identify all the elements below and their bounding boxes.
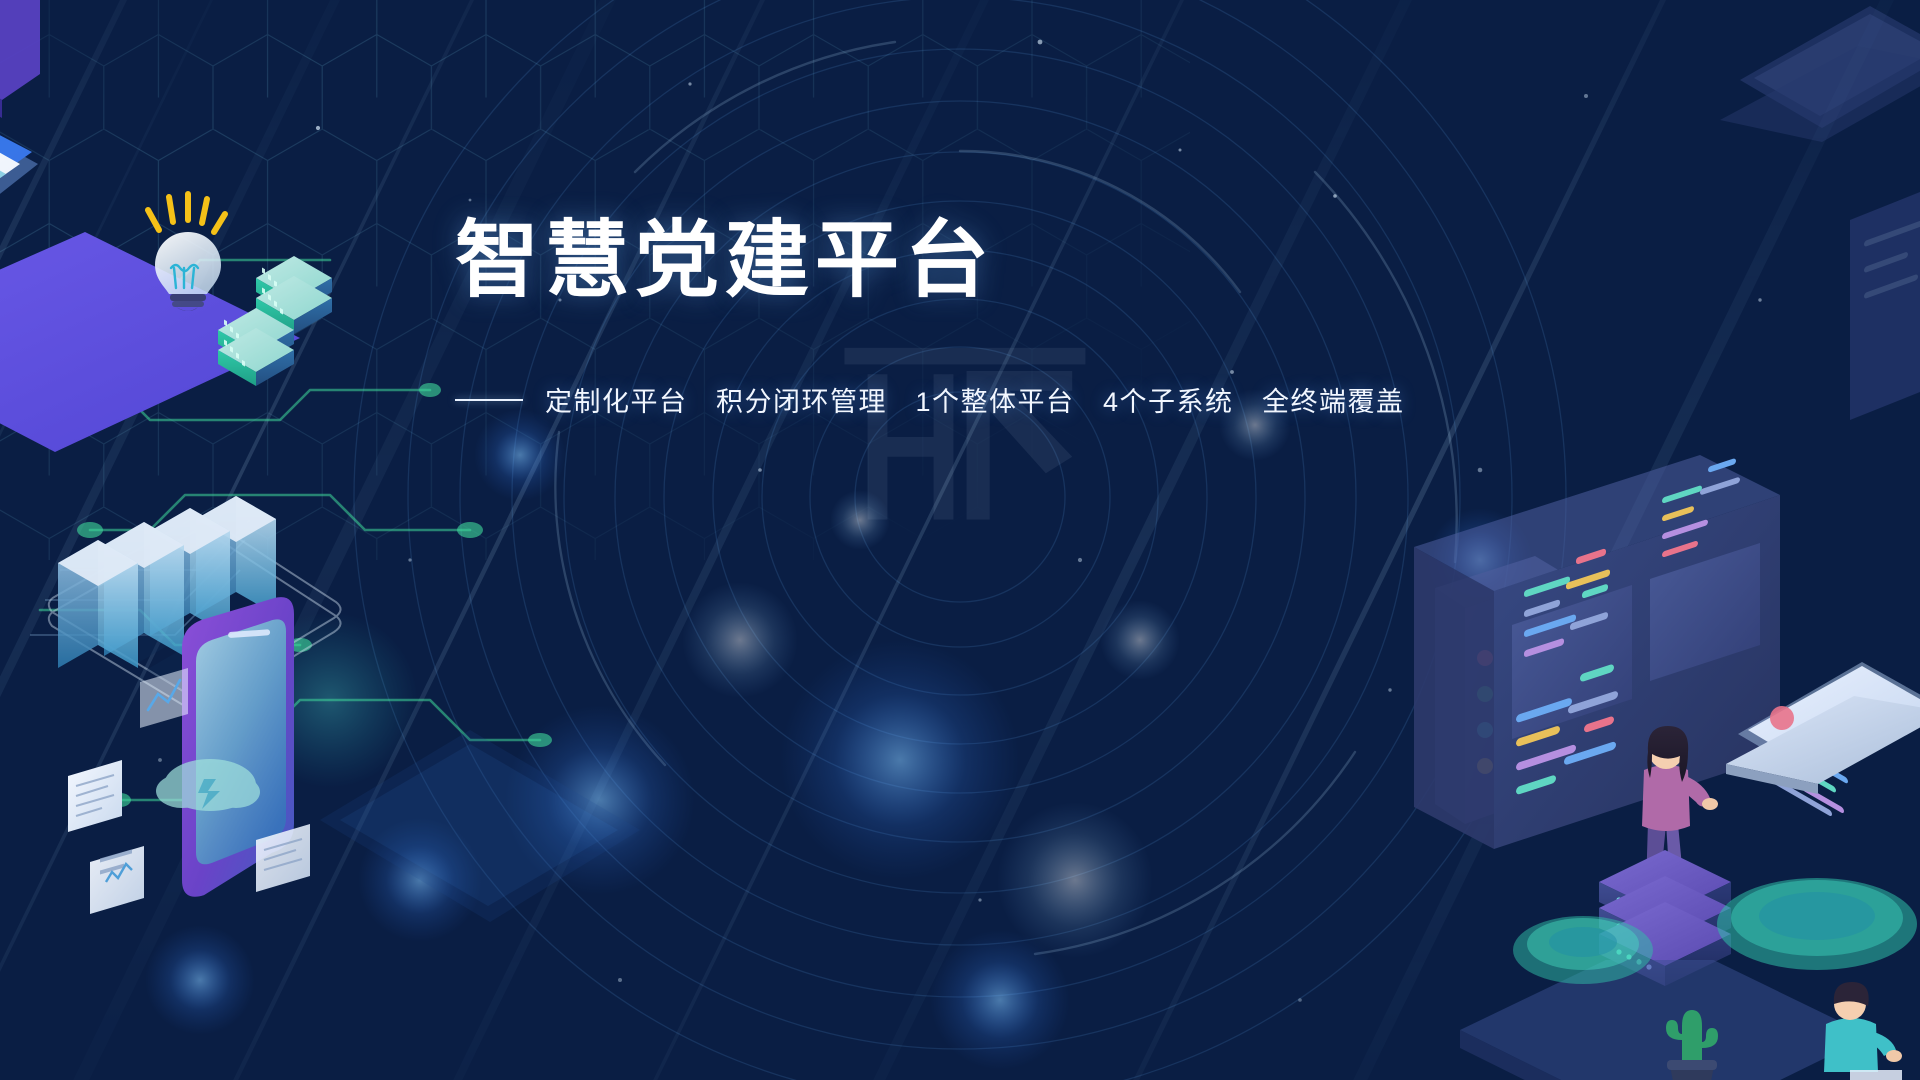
- upper-right-panel: [1840, 180, 1920, 440]
- seated-person-figure: [1792, 962, 1920, 1080]
- tablet-slab: [310, 700, 650, 950]
- banner-root: 智慧党建平台 定制化平台 积分闭环管理 1个整体平台 4个子系统 全终端覆盖: [0, 0, 1920, 1080]
- floating-card: [90, 846, 144, 914]
- floating-chart-card: [140, 668, 188, 728]
- potted-cactus-icon: [1636, 992, 1746, 1080]
- subtitle-line: 定制化平台 积分闭环管理 1个整体平台 4个子系统 全终端覆盖: [455, 380, 1515, 419]
- floating-card: [68, 760, 122, 832]
- page-title: 智慧党建平台: [455, 218, 1515, 302]
- top-left-chip: [0, 0, 90, 120]
- page-subtitle: 定制化平台 积分闭环管理 1个整体平台 4个子系统 全终端覆盖: [545, 380, 1405, 419]
- round-teal-platform-small: [1508, 900, 1658, 1000]
- open-laptop-icon: [1712, 638, 1920, 848]
- subtitle-dash: [455, 399, 523, 401]
- idea-lightbulb-icon: [126, 180, 246, 320]
- hero-copy: 智慧党建平台 定制化平台 积分闭环管理 1个整体平台 4个子系统 全终端覆盖: [455, 218, 1515, 419]
